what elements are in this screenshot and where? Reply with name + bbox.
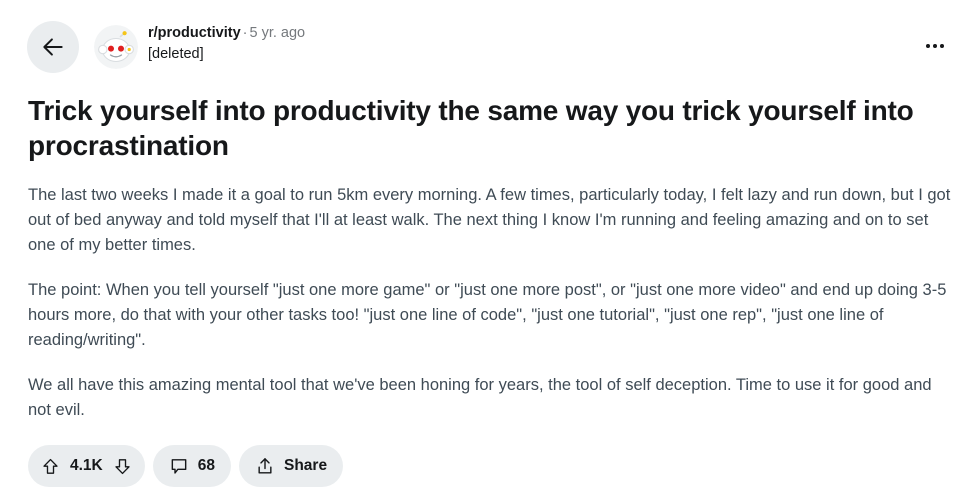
post-action-bar: 4.1K 68 [28,445,343,487]
post-meta: r/productivity·5 yr. ago [deleted] [148,24,917,64]
post-paragraph: We all have this amazing mental tool tha… [28,373,957,423]
share-arrow-icon [255,456,275,476]
avatar[interactable] [94,25,138,69]
post-container: r/productivity·5 yr. ago [deleted] Trick… [0,0,973,495]
more-horizontal-icon-dot-2 [933,44,937,48]
upvote-button[interactable] [39,455,61,477]
post-timestamp: 5 yr. ago [250,25,306,41]
arrow-left-icon [40,34,66,60]
comments-button[interactable]: 68 [153,445,231,487]
comment-bubble-icon [169,456,189,476]
more-options-button[interactable] [917,28,953,64]
downvote-arrow-icon [113,457,132,476]
back-button[interactable] [27,21,79,73]
post-meta-line: r/productivity·5 yr. ago [148,24,917,43]
upvote-arrow-icon [41,457,60,476]
post-author: [deleted] [148,44,917,64]
vote-count: 4.1K [70,458,103,474]
post-paragraph: The point: When you tell yourself "just … [28,278,957,353]
post-paragraph: The last two weeks I made it a goal to r… [28,183,957,258]
share-button[interactable]: Share [239,445,343,487]
post-body: The last two weeks I made it a goal to r… [27,183,957,423]
post-header: r/productivity·5 yr. ago [deleted] [27,22,957,78]
share-label: Share [284,458,327,474]
reddit-snoo-avatar-icon [94,25,138,69]
more-horizontal-icon-dot-3 [940,44,944,48]
vote-pill: 4.1K [28,445,145,487]
downvote-button[interactable] [112,455,134,477]
more-horizontal-icon [926,44,930,48]
post-title: Trick yourself into productivity the sam… [28,94,957,163]
comment-count: 68 [198,458,215,474]
subreddit-link[interactable]: r/productivity [148,25,241,41]
meta-separator: · [243,25,248,41]
